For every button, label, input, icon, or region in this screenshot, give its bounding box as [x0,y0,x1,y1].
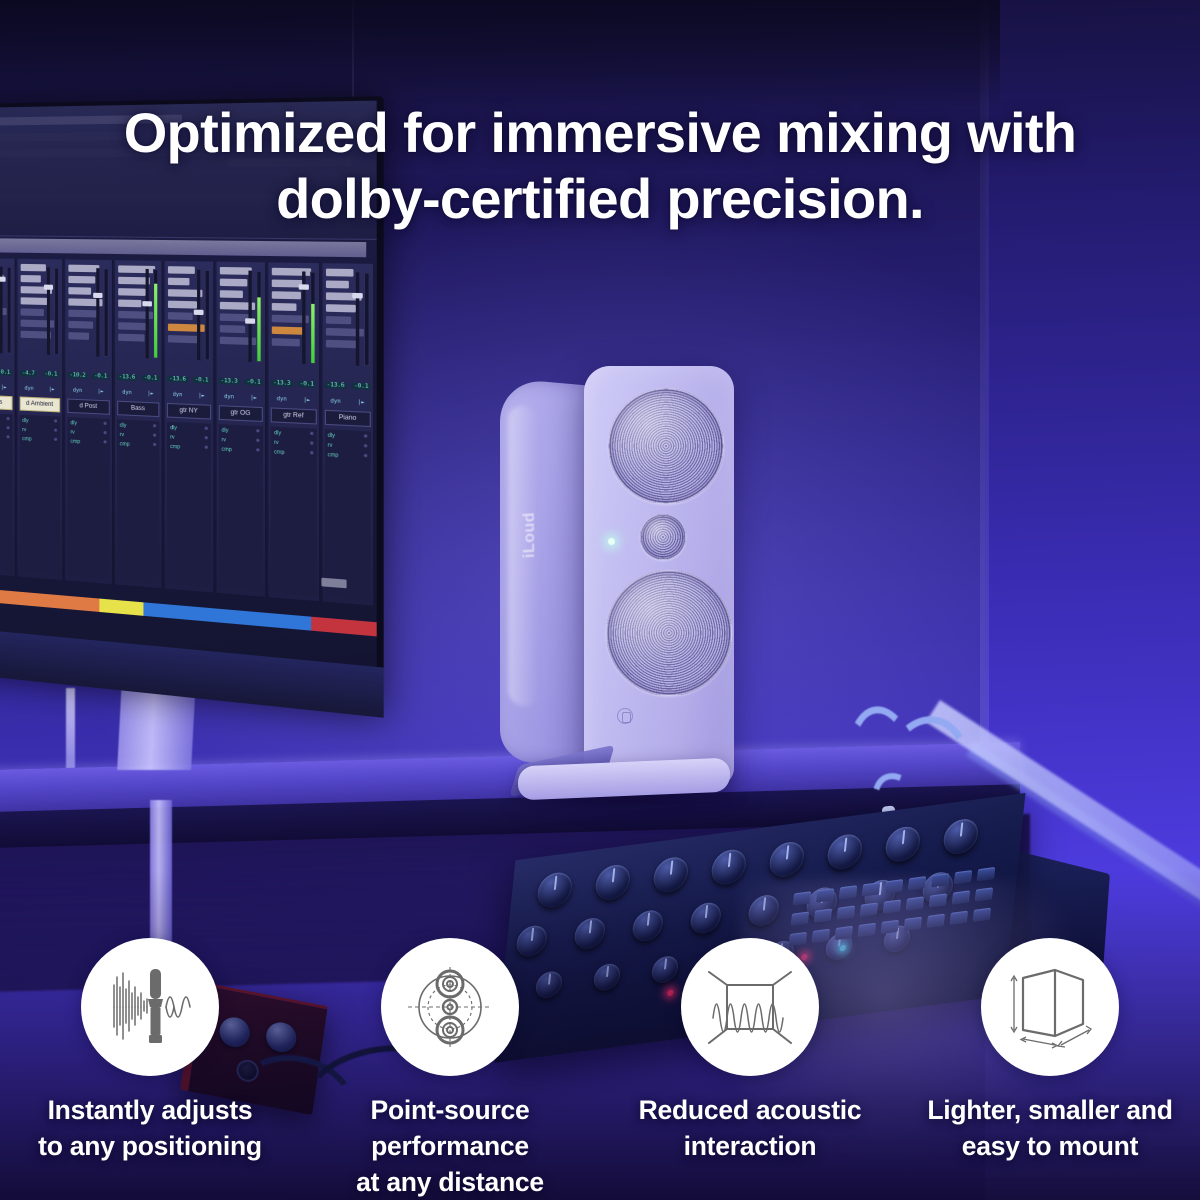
send-slots[interactable]: dlyrvcmp [117,419,160,584]
send-row[interactable]: rv [222,437,260,445]
channel-fader-track[interactable] [248,271,251,362]
pan-control[interactable]: dyn [73,387,82,394]
gain-value: -13.6 [167,375,188,382]
gain-readout: -13.3-0.1 [216,373,265,389]
send-row[interactable]: dly [274,430,313,438]
daw-toolbar [0,101,377,240]
console-knob[interactable] [826,832,864,871]
pan-control[interactable]: |► [147,390,153,397]
gain-value: -13.3 [218,377,239,384]
studio-monitor-speaker: iLoud [500,366,736,806]
insert-chip[interactable] [68,265,99,273]
insert-slots[interactable] [322,263,373,370]
channel-fader-cap[interactable] [93,293,102,298]
send-label: rv [70,429,74,435]
pan-control[interactable]: |► [49,386,55,392]
speaker-emblem-icon [617,708,633,724]
channel-meter [54,267,59,355]
feature-label-4-line-1: Lighter, smaller and [927,1092,1172,1128]
insert-chip[interactable] [325,280,348,288]
feature-label-3-line-2: interaction [639,1128,862,1164]
send-indicator [103,440,106,443]
send-row[interactable]: cmp [22,436,57,444]
send-row[interactable]: dly [328,433,368,441]
send-label: cmp [222,446,232,453]
send-indicator [54,419,57,422]
pan-row[interactable]: dyn|► [216,390,265,404]
feature-label-3: Reduced acoustic interaction [635,1092,866,1164]
gain-readout: -4.7-0.1 [17,366,62,381]
send-indicator [364,444,367,447]
timeline-segment[interactable] [0,587,99,612]
channel-meter [256,271,262,363]
insert-chip[interactable] [272,326,304,334]
track-name-label: d Sticks [0,399,2,406]
insert-chip[interactable] [68,310,97,318]
gain-readout: -13.3-0.1 [268,375,318,391]
gain-value: -0.1 [352,382,371,389]
channel-fader-cap[interactable] [0,277,5,282]
send-row[interactable]: rv [328,442,368,451]
insert-chip[interactable] [325,316,351,324]
insert-chip[interactable] [168,301,197,309]
mic-waveform-icon [104,961,196,1053]
insert-chip[interactable] [272,303,297,311]
track-name[interactable]: d Ambient [19,396,60,412]
insert-chip[interactable] [219,279,247,287]
gain-readout: -13.6-0.1 [115,370,162,385]
send-row[interactable]: dly [170,425,207,433]
send-label: rv [22,427,26,433]
feature-icon-circle-3 [681,938,819,1076]
gain-value: -10.2 [67,371,87,378]
daw-mixer-strips: -13.3-0.1dyn|►d Sticksdlyrvcmp-4.7-0.1dy… [0,258,377,606]
console-knob[interactable] [884,825,922,864]
send-label: cmp [120,441,130,448]
insert-chip[interactable] [20,264,45,272]
track-name-label: gtr OG [231,410,251,417]
feature-row: Instantly adjusts to any positioning [0,938,1200,1200]
insert-slots[interactable] [65,259,111,361]
insert-chip[interactable] [219,267,252,275]
channel-fader-cap[interactable] [193,310,203,315]
gain-readout: -10.2-0.1 [65,368,111,383]
send-row[interactable]: dly [0,416,9,424]
channel-fader-cap[interactable] [352,293,362,299]
gain-readout: -13.6-0.1 [322,377,373,393]
send-label: cmp [328,452,339,459]
insert-chip[interactable] [168,312,193,320]
send-label: rv [274,440,279,447]
insert-slots[interactable] [115,260,162,363]
send-label: dly [70,420,77,426]
track-name[interactable]: d Post [67,399,109,415]
feature-label-1: Instantly adjusts to any positioning [34,1092,266,1164]
send-slots[interactable]: dlyrvcmp [218,424,263,592]
insert-chip[interactable] [219,337,258,346]
insert-chip[interactable] [272,291,301,299]
send-row[interactable]: dly [222,427,260,435]
channel-fader-track[interactable] [96,268,99,357]
mixer-strip[interactable]: -13.6-0.1dyn|►Pianodlyrvcmp [322,263,374,606]
send-indicator [309,451,312,454]
send-indicator [6,417,9,420]
send-indicator [256,448,259,451]
feature-label-1-line-1: Instantly adjusts [38,1092,262,1128]
send-row[interactable]: rv [170,434,207,442]
send-row[interactable]: cmp [222,446,260,454]
pan-row[interactable]: dyn|► [17,382,62,395]
daw-screen: -13.3-0.1dyn|►d Sticksdlyrvcmp-4.7-0.1dy… [0,101,377,670]
send-indicator [153,443,156,446]
gain-value: -0.1 [43,370,60,377]
send-indicator [103,431,106,434]
insert-slots[interactable] [17,259,62,360]
track-name-label: gtr Ref [283,412,303,419]
send-indicator [204,446,207,449]
gain-value: -0.1 [244,378,262,385]
pan-control[interactable]: dyn [224,393,234,400]
pan-control[interactable]: |► [97,388,103,394]
send-indicator [364,454,367,457]
daw-transport-bar [0,238,366,257]
channel-fader-cap[interactable] [44,285,53,290]
pan-row[interactable]: dyn|► [0,380,14,393]
timeline-segment[interactable] [311,617,377,637]
pan-control[interactable]: dyn [330,398,340,405]
pan-row[interactable]: dyn|► [115,386,162,399]
channel-fader-track[interactable] [356,272,359,365]
insert-chip[interactable] [325,269,353,277]
send-row[interactable]: rv [22,427,57,435]
send-row[interactable]: rv [120,432,156,440]
gain-value: -0.1 [297,380,316,387]
track-name[interactable]: gtr OG [218,405,263,422]
send-row[interactable]: cmp [274,449,313,457]
pan-control[interactable]: dyn [122,389,132,396]
send-slots[interactable]: dlyrvcmp [324,429,371,601]
insert-slots[interactable] [268,262,318,368]
timeline-segment[interactable] [99,599,143,616]
insert-chip[interactable] [20,308,44,316]
channel-meter [153,269,158,359]
timeline-segment[interactable] [143,602,310,630]
feature-item-3[interactable]: Reduced acoustic interaction [600,938,900,1200]
gain-value: -13.3 [271,379,293,386]
insert-chip[interactable] [68,332,89,340]
insert-chip[interactable] [168,278,190,286]
send-row[interactable]: rv [70,429,106,437]
send-row[interactable]: cmp [0,434,9,442]
pan-control[interactable]: |► [358,399,365,406]
insert-chip[interactable] [20,275,41,282]
send-label: dly [222,427,229,434]
channel-meter [309,272,315,365]
send-indicator [54,429,57,432]
product-marketing-image: -13.3-0.1dyn|►d Sticksdlyrvcmp-4.7-0.1dy… [0,0,1200,1200]
send-label: dly [170,425,177,432]
feature-icon-circle-2 [381,938,519,1076]
gain-value: -0.1 [142,374,159,381]
send-indicator [309,432,312,435]
send-slots[interactable]: dlyrvcmp [167,422,211,588]
gain-readout: -13.6-0.1 [165,371,213,386]
tweeter-grille-top [608,388,724,504]
send-row[interactable]: cmp [120,441,156,449]
insert-chip[interactable] [118,299,142,307]
channel-meter [103,268,108,357]
room-acoustics-wave-icon [703,960,797,1054]
gain-value: -0.1 [92,372,109,379]
feature-label-2-line-2: at any distance [304,1164,596,1200]
mixer-strip[interactable]: -13.3-0.1dyn|►d Sticksdlyrvcmp [0,258,15,576]
track-name-label: d Post [79,403,97,410]
coaxial-point-source-icon [404,961,496,1053]
insert-chip[interactable] [118,322,149,330]
send-slots[interactable]: dlyrvcmp [0,412,12,572]
send-indicator [204,436,207,439]
track-name[interactable]: d Sticks [0,394,12,410]
send-label: dly [328,433,335,440]
channel-fader-track[interactable] [47,267,50,355]
track-name-label: gtr NY [179,408,197,415]
pan-row[interactable]: dyn|► [322,395,373,409]
feature-item-4[interactable]: Lighter, smaller and easy to mount [900,938,1200,1200]
send-label: dly [120,423,127,430]
midrange-dome [640,514,686,560]
channel-fader-cap[interactable] [245,318,255,324]
channel-meter [204,270,209,361]
insert-chip[interactable] [325,304,356,312]
feature-item-2[interactable]: Point-source performance at any distance [300,938,600,1200]
insert-chip[interactable] [68,287,90,295]
send-row[interactable]: dly [22,418,57,426]
send-label: cmp [70,439,80,446]
track-name-label: Bass [131,405,145,412]
insert-slots[interactable] [165,261,213,365]
send-indicator [309,441,312,444]
feature-label-2: Point-source performance at any distance [300,1092,600,1200]
send-indicator [54,438,57,441]
pan-control[interactable]: dyn [25,385,34,391]
send-label: cmp [22,436,32,443]
send-row[interactable]: dly [70,420,106,428]
send-label: dly [22,418,28,424]
send-row[interactable]: rv [0,425,9,433]
mixer-strip[interactable]: -13.3-0.1dyn|►gtr OGdlyrvcmp [216,262,266,597]
feature-label-1-line-2: to any positioning [38,1128,262,1164]
insert-chip[interactable] [168,335,200,343]
send-label: rv [120,432,124,438]
feature-label-4-line-2: easy to mount [927,1128,1172,1164]
computer-monitor: -13.3-0.1dyn|►d Sticksdlyrvcmp-4.7-0.1dy… [0,96,384,718]
send-row[interactable]: cmp [70,439,106,447]
mixer-strip[interactable]: -4.7-0.1dyn|►d Ambientdlyrvcmp [17,259,63,580]
pan-row[interactable]: dyn|► [165,388,213,402]
insert-chip[interactable] [118,334,144,342]
send-indicator [256,439,259,442]
insert-chip[interactable] [219,290,242,298]
track-name-label: Piano [339,415,357,422]
gain-readout: -13.3-0.1 [0,364,14,379]
power-led-icon [608,538,615,545]
send-label: rv [170,434,174,440]
gain-value: -0.1 [0,369,12,376]
channel-fader-cap[interactable] [298,284,308,290]
send-label: cmp [170,444,180,451]
ceiling-shadow [0,0,1000,110]
console-knob[interactable] [942,817,980,856]
insert-chip[interactable] [118,288,146,296]
mixer-strip[interactable]: -13.3-0.1dyn|►gtr Refdlyrvcmp [268,262,319,601]
mixer-strip[interactable]: -13.6-0.1dyn|►Bassdlyrvcmp [115,260,163,588]
insert-chip[interactable] [325,340,359,349]
track-name[interactable]: Bass [117,401,160,417]
track-name-label: d Ambient [26,401,53,408]
send-indicator [153,433,156,436]
feature-item-1[interactable]: Instantly adjusts to any positioning [0,938,300,1200]
send-row[interactable]: cmp [170,444,207,452]
gain-value: -13.6 [324,381,346,388]
insert-chip[interactable] [68,321,93,329]
feature-label-3-line-1: Reduced acoustic [639,1092,862,1128]
send-indicator [103,422,106,425]
send-label: rv [222,437,227,444]
pan-control[interactable]: |► [303,397,310,404]
pan-control[interactable]: |► [1,384,7,390]
channel-meter [364,272,370,366]
insert-chip[interactable] [20,297,48,305]
pan-control[interactable]: |► [198,392,205,399]
pan-control[interactable]: |► [250,394,257,401]
send-indicator [153,424,156,427]
gain-value: -13.6 [117,373,138,380]
feature-label-4: Lighter, smaller and easy to mount [923,1092,1176,1164]
track-name[interactable]: gtr NY [167,403,211,420]
send-label: dly [274,430,281,437]
cabinet-dimensions-icon [1003,960,1097,1054]
track-name[interactable]: gtr Ref [271,407,317,424]
send-label: cmp [274,449,285,456]
woofer-grille-bottom [606,570,732,696]
pan-control[interactable]: dyn [277,395,287,402]
gain-value: -4.7 [20,370,37,377]
channel-fader-track[interactable] [146,269,149,358]
send-indicator [256,429,259,432]
feature-label-2-line-1: Point-source performance [304,1092,596,1164]
send-indicator [6,426,9,429]
feature-icon-circle-4 [981,938,1119,1076]
send-indicator [364,434,367,437]
insert-slots[interactable] [216,262,265,367]
send-indicator [204,427,207,430]
insert-slots[interactable] [0,258,14,358]
send-row[interactable]: rv [274,440,313,448]
send-slots[interactable]: dlyrvcmp [19,415,60,576]
channel-meter [6,267,11,354]
insert-chip[interactable] [68,276,95,284]
send-row[interactable]: dly [120,423,156,431]
insert-chip[interactable] [118,265,155,273]
insert-chip[interactable] [219,325,245,333]
send-slots[interactable]: dlyrvcmp [67,417,109,580]
pan-row[interactable]: dyn|► [65,384,111,397]
feature-icon-circle-1 [81,938,219,1076]
pan-control[interactable]: dyn [173,391,183,398]
send-label: rv [328,442,333,449]
brand-logo: iLoud [521,499,539,572]
gain-value: -0.1 [193,376,211,383]
insert-chip[interactable] [272,338,300,346]
send-indicator [6,435,9,438]
mixer-strip[interactable]: -13.6-0.1dyn|►gtr NYdlyrvcmp [165,261,214,593]
send-row[interactable]: cmp [328,452,368,461]
channel-fader-cap[interactable] [142,301,152,306]
insert-chip[interactable] [168,266,194,274]
mixer-strip[interactable]: -10.2-0.1dyn|►d Postdlyrvcmp [65,259,112,584]
pan-row[interactable]: dyn|► [268,392,318,406]
send-slots[interactable]: dlyrvcmp [271,427,317,597]
track-name[interactable]: Piano [324,410,371,427]
